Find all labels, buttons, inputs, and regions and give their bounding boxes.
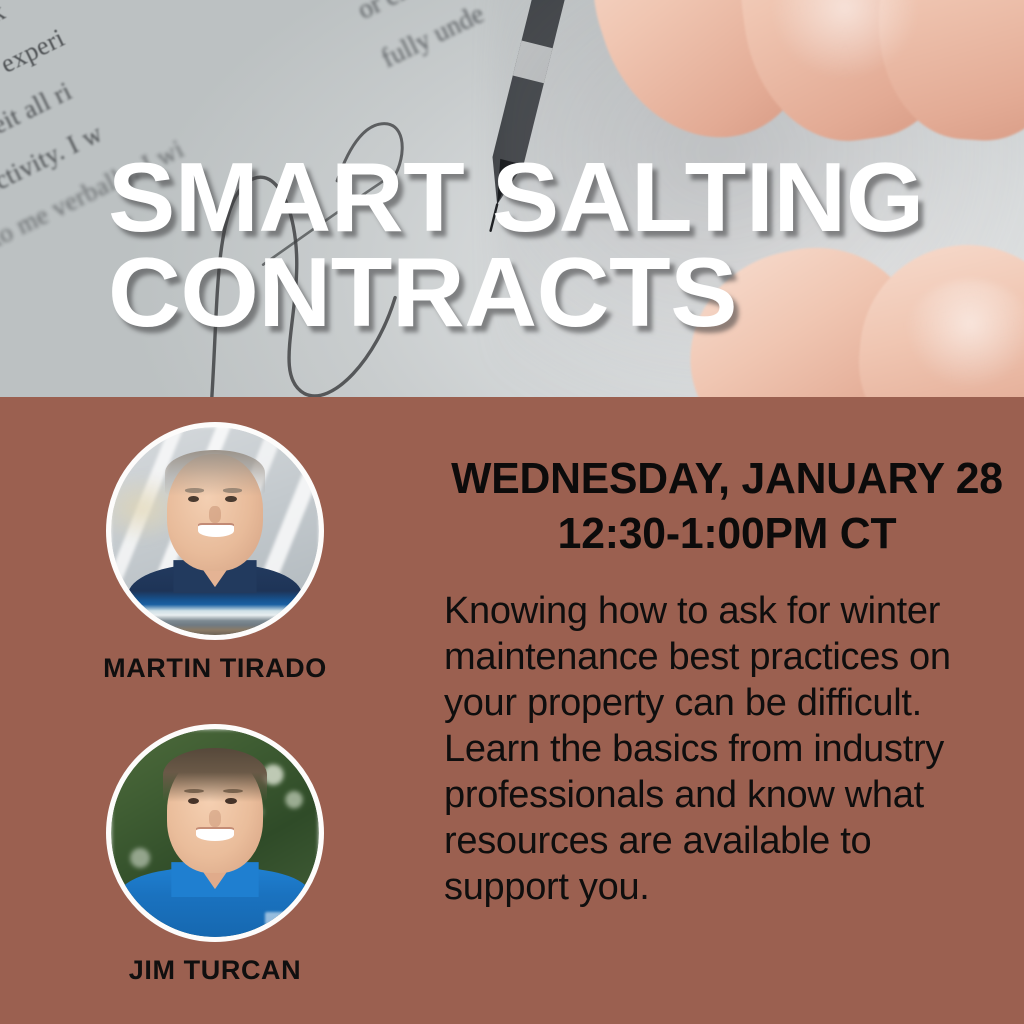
eyebrow [223, 488, 242, 492]
eye [225, 798, 236, 804]
portrait-jim-turcan [111, 729, 319, 937]
event-datetime: WEDNESDAY, JANUARY 28 12:30-1:00PM CT [439, 397, 1015, 561]
hair [163, 748, 267, 802]
nose [209, 506, 221, 523]
page-title: SMART SALTING CONTRACTS [108, 150, 963, 340]
eye [188, 798, 199, 804]
event-date: WEDNESDAY, JANUARY 28 [445, 452, 1010, 507]
event-description: Knowing how to ask for winter maintenanc… [430, 561, 1024, 911]
speaker-name: MARTIN TIRADO [0, 653, 430, 684]
event-time: 12:30-1:00PM CT [445, 507, 1010, 562]
speaker-martin-tirado: MARTIN TIRADO [0, 422, 430, 684]
portrait-martin-tirado [111, 427, 319, 635]
title-line-1: SMART SALTING [108, 142, 924, 252]
event-info-column: WEDNESDAY, JANUARY 28 12:30-1:00PM CT Kn… [430, 397, 1024, 1024]
title-line-2: CONTRACTS [108, 245, 963, 340]
hair [165, 450, 265, 496]
event-promo-poster: volved nd that all risk kelihood of expe… [0, 0, 1024, 1024]
avatar [106, 422, 324, 640]
speaker-name: JIM TURCAN [0, 955, 430, 986]
avatar [106, 724, 324, 942]
eyebrow [185, 488, 204, 492]
nose [209, 810, 221, 827]
speakers-column: MARTIN TIRADO [0, 397, 430, 1024]
shirt-logo [265, 912, 292, 924]
speaker-jim-turcan: JIM TURCAN [0, 724, 430, 986]
hero-banner: volved nd that all risk kelihood of expe… [0, 0, 1024, 397]
eye [225, 496, 236, 503]
